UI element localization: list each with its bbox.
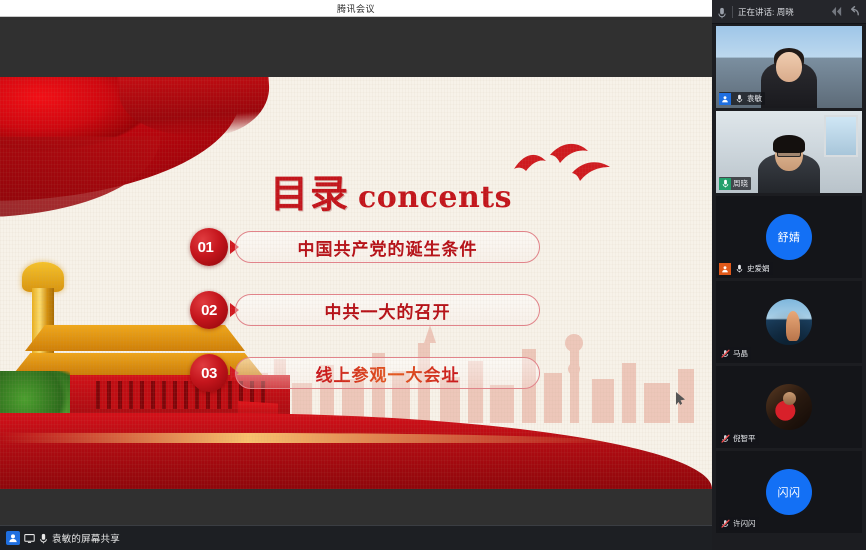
toc-item-label: 线上参观一大会址 (316, 361, 460, 386)
participant-name: 袁敏 (747, 93, 762, 104)
microphone-icon (39, 533, 48, 544)
slide-title: 目录 concents (270, 163, 512, 218)
participant-name-chip: 马晶 (719, 347, 751, 360)
microphone-muted-icon (719, 433, 731, 445)
toc-number-badge: 03 (190, 354, 228, 392)
shared-screen-stage[interactable]: 中华人民共和国万岁 世界人民大团结万岁 目录 concents 01 中国共产党… (0, 17, 712, 525)
participants-sidebar: 正在讲话: 周晓 袁敏 (712, 0, 866, 550)
toc-number-badge: 01 (190, 228, 228, 266)
toc-item: 02 中共一大的召开 (190, 288, 540, 332)
participant-tile[interactable]: 舒婧 史爱娟 (716, 196, 862, 278)
avatar: 闪闪 (766, 469, 812, 515)
avatar: 舒婧 (766, 214, 812, 260)
avatar (766, 299, 812, 345)
red-ground-decor (0, 413, 712, 489)
webcam-hair-decor (773, 135, 805, 153)
participant-name-chip: 周晓 (719, 177, 751, 190)
arrow-return-icon[interactable] (848, 5, 861, 18)
slide-title-cn: 目录 (270, 163, 350, 218)
presentation-slide: 中华人民共和国万岁 世界人民大团结万岁 目录 concents 01 中国共产党… (0, 77, 712, 489)
webcam-window-decor (824, 115, 858, 157)
flying-birds-decor (506, 139, 616, 194)
participant-tile[interactable]: 闪闪 许闪闪 (716, 451, 862, 533)
participant-name: 倪智平 (733, 433, 756, 444)
sidebar-header: 正在讲话: 周晓 (712, 0, 866, 24)
avatar (766, 384, 812, 430)
double-chevron-left-icon[interactable] (830, 5, 843, 18)
toc-item-label: 中国共产党的诞生条件 (298, 235, 478, 260)
participant-tile[interactable]: 袁敏 (716, 26, 862, 108)
participant-tile[interactable]: 周晓 (716, 111, 862, 193)
webcam-face-decor (776, 52, 802, 82)
toc-pill: 中国共产党的诞生条件 (235, 231, 540, 263)
slide-title-en: concents (358, 180, 512, 215)
host-person-icon (719, 93, 731, 105)
window-title: 腾讯会议 (337, 2, 375, 15)
participant-name-chip: 倪智平 (719, 432, 759, 445)
host-person-icon (719, 263, 731, 275)
screen-share-statusbar: 袁敏的屏幕共享 (0, 525, 712, 550)
microphone-icon (733, 263, 745, 275)
share-status-label: 袁敏的屏幕共享 (52, 531, 120, 545)
toc-item-label: 中共一大的召开 (325, 298, 451, 323)
participant-name: 许闪闪 (733, 518, 756, 529)
table-of-contents: 01 中国共产党的诞生条件 02 中共一大的召开 03 (190, 225, 540, 414)
participant-tiles[interactable]: 袁敏 周晓 舒婧 (712, 24, 866, 550)
participant-name: 史爱娟 (747, 263, 770, 274)
toc-number-badge: 02 (190, 291, 228, 329)
microphone-icon (717, 6, 727, 18)
monitor-icon (24, 533, 35, 544)
toc-pill: 中共一大的召开 (235, 294, 540, 326)
header-divider (732, 6, 733, 18)
toc-item: 03 线上参观一大会址 (190, 351, 540, 395)
participant-name-chip: 史爱娟 (719, 262, 773, 275)
participant-tile[interactable]: 马晶 (716, 281, 862, 363)
participant-tile[interactable]: 倪智平 (716, 366, 862, 448)
participant-name-chip: 袁敏 (719, 92, 765, 105)
microphone-icon (733, 93, 745, 105)
toc-pill: 线上参观一大会址 (235, 357, 540, 389)
person-icon (6, 531, 20, 545)
tencent-meeting-window: 腾讯会议 (0, 0, 866, 550)
participant-name: 周晓 (733, 178, 748, 189)
participant-name-chip: 许闪闪 (719, 517, 759, 530)
microphone-active-icon (719, 178, 731, 190)
microphone-muted-icon (719, 348, 731, 360)
active-speaker-label: 正在讲话: 周晓 (738, 6, 825, 18)
participant-name: 马晶 (733, 348, 748, 359)
microphone-muted-icon (719, 518, 731, 530)
window-titlebar: 腾讯会议 (0, 0, 712, 17)
toc-item: 01 中国共产党的诞生条件 (190, 225, 540, 269)
